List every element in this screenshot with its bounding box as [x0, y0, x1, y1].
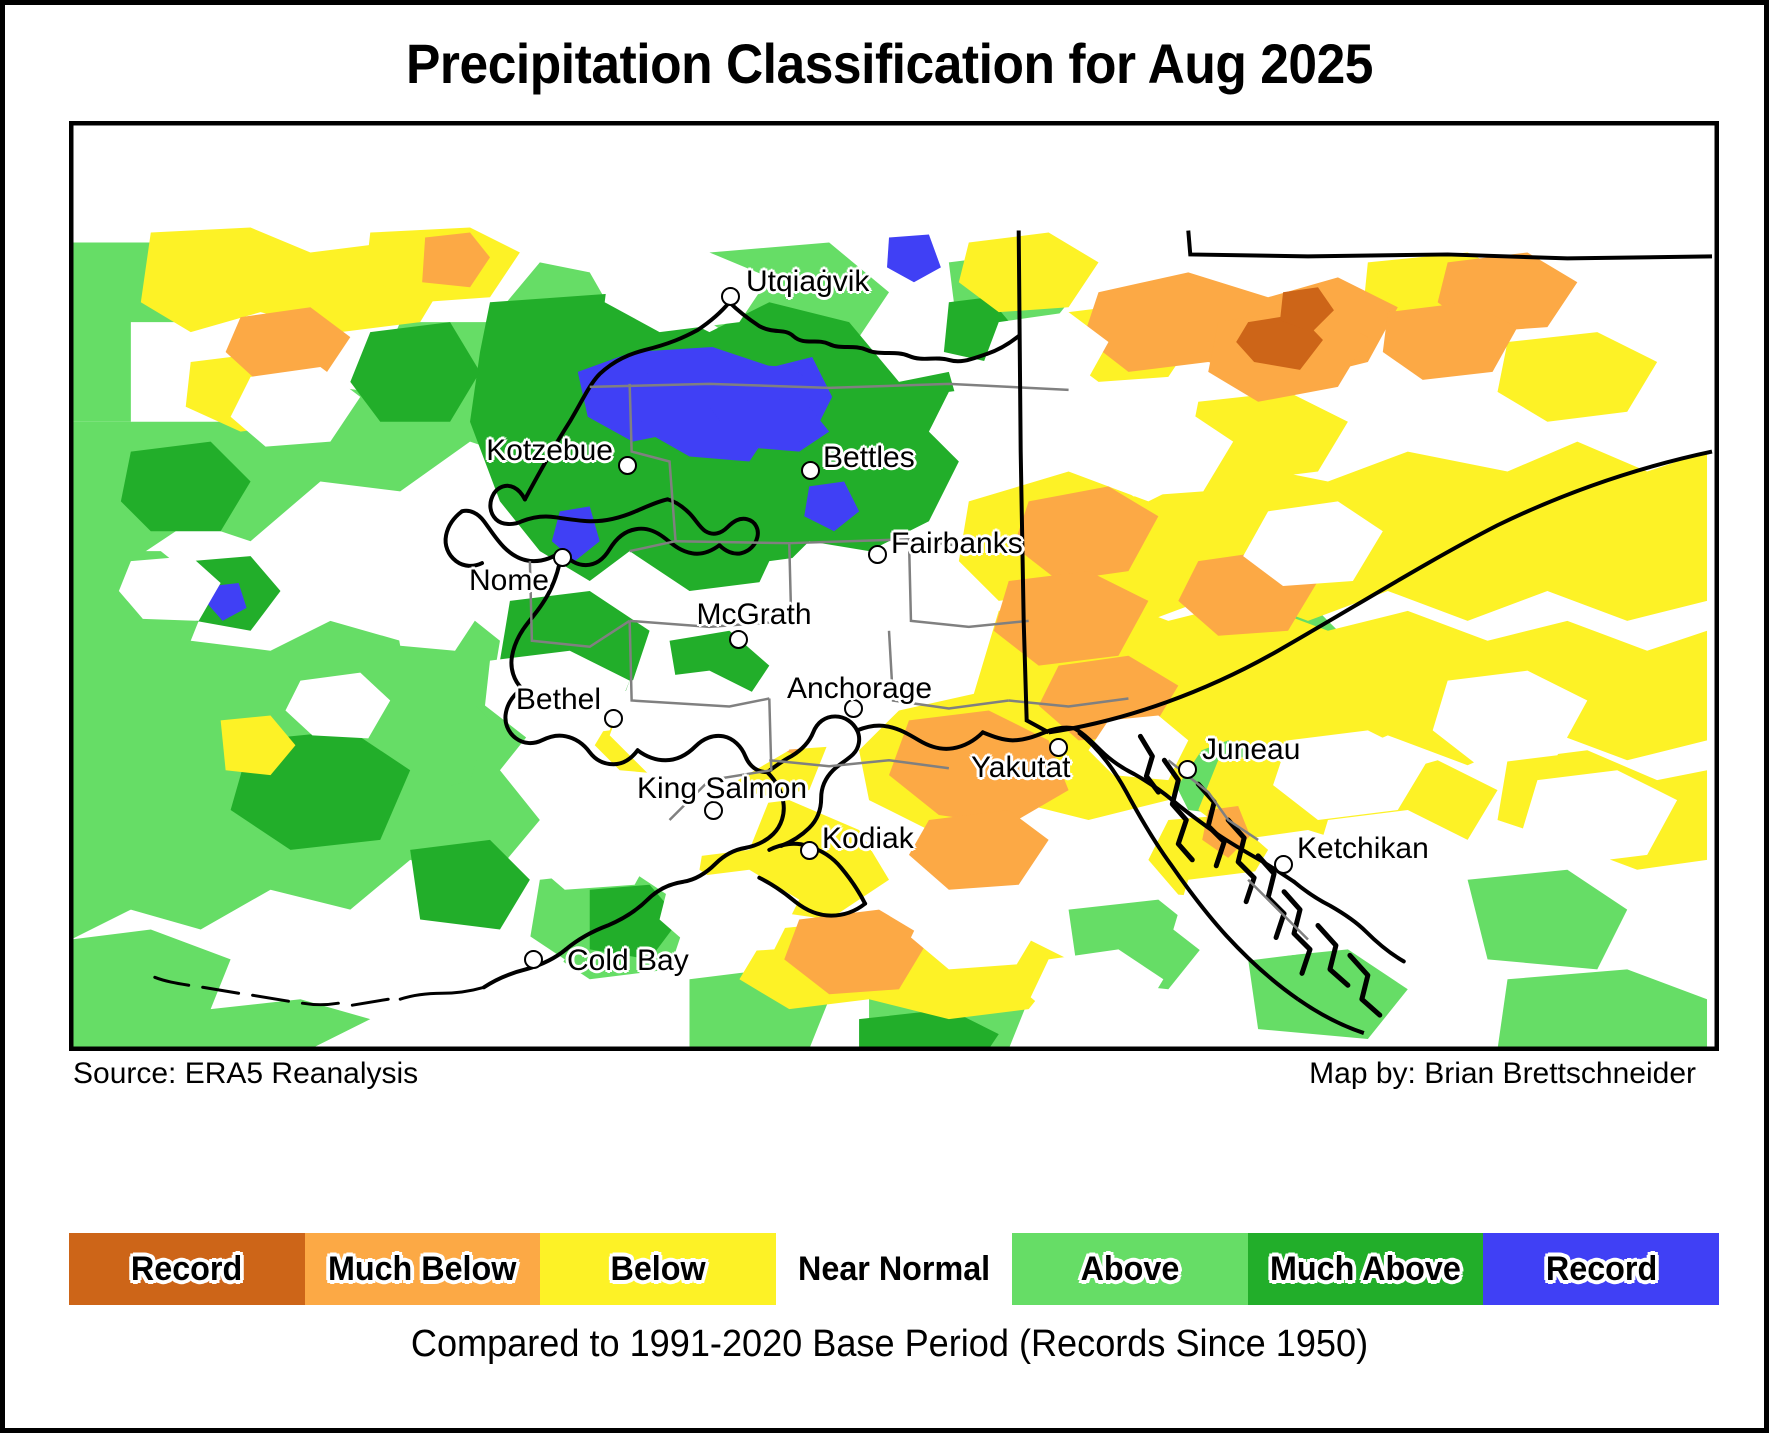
legend-item-record-6[interactable]: Record [1483, 1233, 1719, 1305]
city-label-bettles: Bettles [823, 441, 915, 475]
city-marker-bettles[interactable] [801, 461, 820, 480]
legend-item-label: Record [1546, 1250, 1657, 1289]
legend-item-label: Much Below [328, 1250, 516, 1289]
city-marker-utqiag-vik[interactable] [721, 287, 740, 306]
legend-item-above-4[interactable]: Above [1012, 1233, 1248, 1305]
page-title: Precipitation Classification for Aug 202… [76, 31, 1703, 96]
city-label-nome: Nome [71, 564, 549, 598]
city-marker-fairbanks[interactable] [868, 545, 887, 564]
city-marker-mcgrath[interactable] [729, 630, 748, 649]
city-label-mcgrath: McGrath [696, 598, 811, 632]
legend-item-much-above-5[interactable]: Much Above [1248, 1233, 1484, 1305]
city-label-cold-bay: Cold Bay [567, 944, 689, 978]
city-label-juneau: Juneau [1202, 733, 1300, 767]
city-marker-bethel[interactable] [604, 709, 623, 728]
legend-item-label: Above [1080, 1250, 1179, 1289]
city-label-king-salmon: King Salmon [637, 772, 807, 806]
city-marker-nome[interactable] [553, 548, 572, 567]
legend-caption: Compared to 1991-2020 Base Period (Recor… [49, 1323, 1730, 1366]
author-credit: Map by: Brian Brettschneider [1309, 1057, 1696, 1091]
legend-bar: RecordMuch BelowBelowNear NormalAboveMuc… [69, 1233, 1719, 1305]
legend-item-much-below-1[interactable]: Much Below [305, 1233, 541, 1305]
legend-item-below-2[interactable]: Below [540, 1233, 776, 1305]
city-marker-ketchikan[interactable] [1274, 855, 1293, 874]
city-label-kodiak: Kodiak [822, 822, 914, 856]
legend-item-label: Near Normal [798, 1250, 990, 1289]
map-panel: UtqiaġvikKotzebueBettlesNomeFairbanksMc… [69, 121, 1719, 1051]
poster-root: Precipitation Classification for Aug 202… [0, 0, 1769, 1433]
city-label-anchorage: Anchorage [787, 672, 932, 706]
city-label-fairbanks: Fairbanks [891, 527, 1023, 561]
city-label-utqiag-vik: Utqiaġvik [746, 265, 869, 299]
city-marker-kotzebue[interactable] [618, 456, 637, 475]
city-marker-kodiak[interactable] [800, 841, 819, 860]
city-label-bethel: Bethel [71, 683, 601, 717]
legend-item-record-0[interactable]: Record [69, 1233, 305, 1305]
legend-item-label: Record [131, 1250, 242, 1289]
legend-item-label: Below [611, 1250, 706, 1289]
city-label-ketchikan: Ketchikan [1297, 832, 1429, 866]
legend-item-near-normal-3[interactable]: Near Normal [776, 1233, 1012, 1305]
city-marker-cold-bay[interactable] [524, 950, 543, 969]
city-label-kotzebue: Kotzebue [71, 434, 613, 468]
source-credit: Source: ERA5 Reanalysis [73, 1057, 418, 1091]
legend-item-label: Much Above [1270, 1250, 1461, 1289]
city-label-yakutat: Yakutat [971, 751, 1071, 785]
city-marker-juneau[interactable] [1178, 760, 1197, 779]
